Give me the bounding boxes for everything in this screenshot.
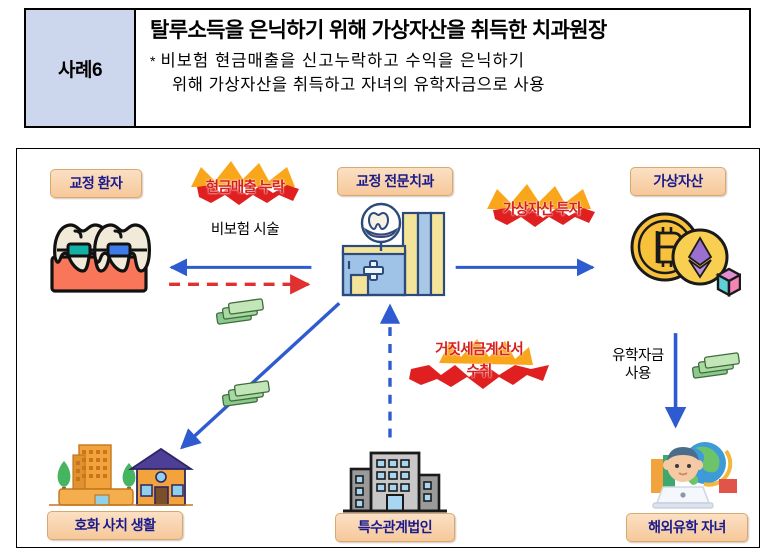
cash-stack-icon-left xyxy=(213,297,269,332)
case-headline: 탈루소득을 은닉하기 위해 가상자산을 취득한 치과원장 xyxy=(150,18,735,44)
arrow-label-study-fund-line-1: 유학자금 xyxy=(612,348,664,364)
case-note-line-2: 위해 가상자산을 취득하고 자녀의 유학자금으로 사용 xyxy=(150,74,545,98)
case-number-label: 사례6 xyxy=(58,55,102,82)
case-note-line-1: 비보험 현금매출을 신고누락하고 수익을 은닉하기 xyxy=(160,50,525,74)
student-laptop-globe-icon xyxy=(623,435,743,515)
node-label-child[interactable]: 해외유학 자녀 xyxy=(626,513,748,542)
arrow-label-noninsured-procedure: 비보험 시술 xyxy=(185,221,305,239)
node-label-clinic[interactable]: 교정 전문치과 xyxy=(337,167,453,196)
dental-clinic-building-icon xyxy=(329,201,459,301)
arrow-label-study-fund-line-2: 사용 xyxy=(625,366,651,382)
cash-stack-icon-diagonal xyxy=(219,379,275,414)
node-label-luxury[interactable]: 호화 사치 생활 xyxy=(47,511,183,540)
burst-crypto-investment-text: 가상자산 투자 xyxy=(473,203,611,218)
burst-cash-sales-omission: 현금매출 누락 xyxy=(175,157,315,209)
cash-stack-icon-right xyxy=(689,351,745,386)
case-note-row-2: 위해 가상자산을 취득하고 자녀의 유학자금으로 사용 xyxy=(150,74,735,98)
screenshot-root: 사례6 탈루소득을 은닉하기 위해 가상자산을 취득한 치과원장 * 비보험 현… xyxy=(0,0,775,559)
case-number-cell: 사례6 xyxy=(26,10,136,126)
case-header-table: 사례6 탈루소득을 은닉하기 위해 가상자산을 취득한 치과원장 * 비보험 현… xyxy=(24,8,751,128)
node-label-crypto[interactable]: 가상자산 xyxy=(630,167,726,196)
node-label-patient[interactable]: 교정 환자 xyxy=(50,169,142,198)
braces-teeth-icon xyxy=(39,207,159,297)
bitcoin-ethereum-coins-icon xyxy=(621,205,741,301)
arrow-label-study-fund: 유학자금 사용 xyxy=(599,347,677,383)
note-bullet-star: * xyxy=(150,50,155,74)
burst-false-tax-invoice-line-1: 거짓세금계산서 xyxy=(403,343,555,358)
flow-diagram-frame: 교정 환자 xyxy=(16,148,760,548)
case-note-row-1: * 비보험 현금매출을 신고누락하고 수익을 은닉하기 xyxy=(150,50,735,74)
burst-false-tax-invoice-line-2: 수취 xyxy=(403,365,555,380)
burst-cash-sales-omission-text: 현금매출 누락 xyxy=(175,181,315,196)
office-building-icon xyxy=(339,445,451,517)
case-description-cell: 탈루소득을 은닉하기 위해 가상자산을 취득한 치과원장 * 비보험 현금매출을… xyxy=(136,10,749,126)
buildings-house-icon xyxy=(45,437,195,515)
burst-false-tax-invoice: 거짓세금계산서 수취 xyxy=(403,335,555,397)
node-label-related-corp[interactable]: 특수관계법인 xyxy=(335,513,455,542)
burst-crypto-investment: 가상자산 투자 xyxy=(473,181,611,231)
